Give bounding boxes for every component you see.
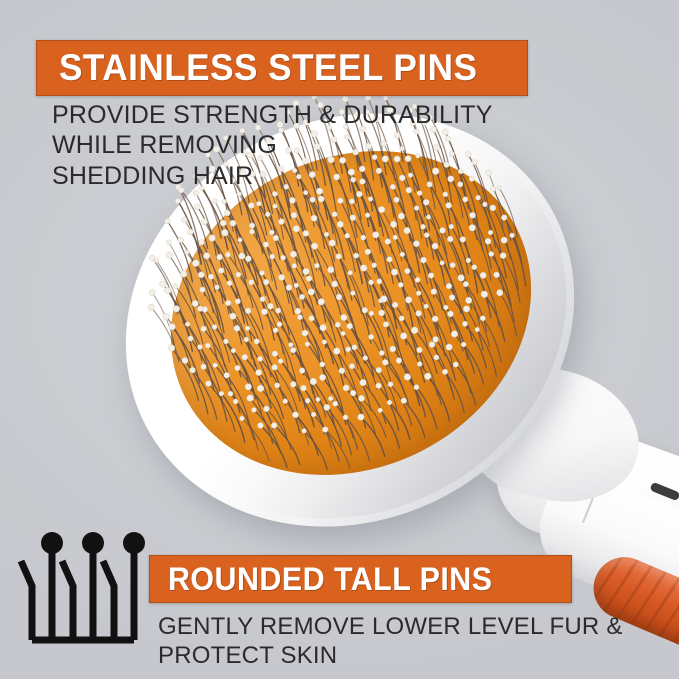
headline-banner-rounded-tall-pins: ROUNDED TALL PINS [149,555,572,603]
description-rounded-tall-pins: GENTLY REMOVE LOWER LEVEL FUR & PROTECT … [158,612,623,670]
description-stainless-steel-pins: PROVIDE STRENGTH & DURABILITY WHILE REMO… [52,100,493,191]
headline-banner-stainless-steel-pins: STAINLESS STEEL PINS [36,40,528,96]
headline-text-stainless-steel-pins: STAINLESS STEEL PINS [59,47,477,89]
headline-text-rounded-tall-pins: ROUNDED TALL PINS [168,561,492,598]
product-feature-infographic: STAINLESS STEEL PINS PROVIDE STRENGTH & … [0,0,679,679]
rounded-pins-icon [16,528,146,646]
